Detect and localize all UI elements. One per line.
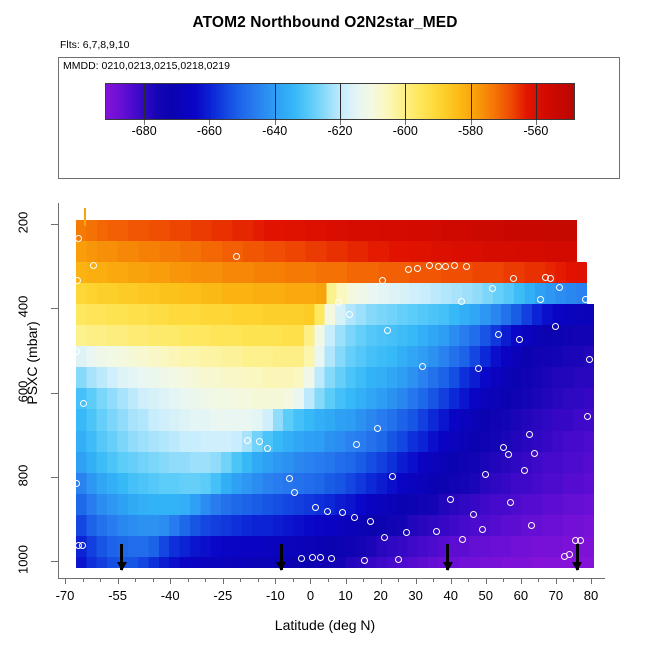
x-axis-tick-label: -25 — [200, 588, 246, 603]
data-point-marker — [79, 542, 86, 549]
data-point-marker — [447, 496, 454, 503]
y-axis-tick — [51, 477, 58, 478]
x-axis-minor-tick — [468, 578, 469, 582]
data-point-marker — [451, 262, 458, 269]
x-axis-minor-tick — [153, 578, 154, 582]
colorbar-tick — [405, 83, 406, 120]
x-axis-minor-tick — [573, 578, 574, 582]
x-axis-tick-label: -70 — [42, 588, 88, 603]
data-point-marker — [339, 509, 346, 516]
colorbar-tick — [209, 83, 210, 120]
data-point-marker — [479, 526, 486, 533]
y-axis-title: PSXC (mbar) — [24, 273, 40, 453]
colorbar-tick-label: -660 — [179, 124, 239, 138]
latitude-arrow — [446, 544, 449, 570]
data-point-marker — [384, 327, 391, 334]
data-point-marker — [367, 518, 374, 525]
y-axis-line — [58, 203, 59, 578]
data-point-marker — [586, 356, 593, 363]
colorbar-tick-label: -640 — [245, 124, 305, 138]
x-axis-tick-label: -40 — [147, 588, 193, 603]
colorbar-tick-label: -560 — [506, 124, 566, 138]
heatmap-row — [76, 241, 577, 263]
data-point-marker — [353, 441, 360, 448]
x-axis-minor-tick — [240, 578, 241, 582]
latitude-arrow — [120, 544, 123, 570]
heatmap-row — [76, 367, 595, 389]
colorbar-tick-label: -620 — [310, 124, 370, 138]
x-axis-minor-tick — [328, 578, 329, 582]
y-axis-tick-label: 200 — [16, 200, 31, 246]
x-axis-tick-label: 80 — [568, 588, 614, 603]
x-axis-minor-tick — [135, 578, 136, 582]
data-point-marker — [426, 262, 433, 269]
colorbar-tick — [144, 83, 145, 120]
data-point-marker — [442, 263, 449, 270]
data-point-marker — [374, 425, 381, 432]
data-point-marker — [528, 522, 535, 529]
data-point-marker — [291, 489, 298, 496]
x-axis-tick — [556, 578, 557, 584]
data-point-marker — [463, 263, 470, 270]
x-axis-minor-tick — [293, 578, 294, 582]
data-point-marker — [244, 437, 251, 444]
x-axis-title: Latitude (deg N) — [0, 617, 650, 633]
data-point-marker — [587, 257, 594, 264]
x-axis-minor-tick — [538, 578, 539, 582]
page-title: ATOM2 Northbound O2N2star_MED — [0, 14, 650, 32]
heatmap-row — [76, 452, 595, 474]
y-axis-tick-label: 1000 — [16, 537, 31, 583]
x-axis-minor-tick — [83, 578, 84, 582]
data-point-marker — [435, 263, 442, 270]
figure-root: ATOM2 Northbound O2N2star_MED Flts: 6,7,… — [0, 0, 650, 650]
data-point-marker — [74, 277, 81, 284]
heatmap-row — [76, 346, 595, 368]
data-point-marker — [505, 451, 512, 458]
x-axis-tick-label: -55 — [95, 588, 141, 603]
data-point-marker — [577, 537, 584, 544]
x-axis-tick — [451, 578, 452, 584]
data-point-marker — [547, 275, 554, 282]
data-point-marker — [312, 504, 319, 511]
y-axis-tick — [51, 224, 58, 225]
x-axis-tick — [118, 578, 119, 584]
x-axis-tick — [310, 578, 311, 584]
x-axis-tick — [223, 578, 224, 584]
flights-annotation: Flts: 6,7,8,9,10 — [60, 39, 129, 51]
x-axis-line — [58, 578, 605, 579]
data-point-marker — [381, 534, 388, 541]
heatmap-panel — [58, 203, 605, 578]
mmdd-annotation: MMDD: 0210,0213,0215,0218,0219 — [63, 60, 230, 72]
x-axis-tick — [416, 578, 417, 584]
heatmap-row — [76, 431, 595, 453]
colorbar-tick-label: -680 — [114, 124, 174, 138]
data-point-marker — [80, 400, 87, 407]
data-point-marker — [75, 235, 82, 242]
x-axis-minor-tick — [503, 578, 504, 582]
heatmap-row — [76, 473, 595, 495]
colorbar-tick — [340, 83, 341, 120]
colorbar — [105, 83, 575, 120]
colorbar-tick — [471, 83, 472, 120]
heatmap-row — [76, 557, 595, 568]
data-point-marker — [346, 311, 353, 318]
data-point-marker — [298, 555, 305, 562]
data-point-marker — [458, 298, 465, 305]
colorbar-tick-label: -580 — [441, 124, 501, 138]
x-axis-minor-tick — [258, 578, 259, 582]
y-axis-tick — [51, 308, 58, 309]
data-point-marker — [584, 413, 591, 420]
heatmap-row — [76, 304, 595, 326]
data-point-marker — [500, 444, 507, 451]
x-axis-tick — [275, 578, 276, 584]
data-point-marker — [379, 277, 386, 284]
latitude-arrow — [280, 544, 283, 570]
data-point-marker — [495, 331, 502, 338]
y-axis-tick — [51, 393, 58, 394]
data-point-marker — [233, 253, 240, 260]
data-point-marker — [309, 554, 316, 561]
data-point-marker — [73, 480, 80, 487]
data-point-marker — [351, 514, 358, 521]
x-axis-minor-tick — [188, 578, 189, 582]
y-axis-tick-label: 800 — [16, 452, 31, 498]
colorbar-tick — [536, 83, 537, 120]
data-spike — [84, 208, 86, 226]
x-axis-tick — [591, 578, 592, 584]
data-point-marker — [507, 499, 514, 506]
heatmap-row — [76, 283, 588, 305]
heatmap-row — [76, 536, 595, 558]
heatmap-row — [76, 515, 595, 537]
colorbar-tick — [275, 83, 276, 120]
data-point-marker — [556, 284, 563, 291]
x-axis-minor-tick — [363, 578, 364, 582]
x-axis-minor-tick — [100, 578, 101, 582]
x-axis-minor-tick — [433, 578, 434, 582]
heatmap-row — [76, 409, 595, 431]
data-point-marker — [395, 556, 402, 563]
data-point-marker — [582, 296, 589, 303]
x-axis-tick — [381, 578, 382, 584]
x-axis-minor-tick — [398, 578, 399, 582]
x-axis-minor-tick — [205, 578, 206, 582]
x-axis-tick — [486, 578, 487, 584]
heatmap-row — [76, 388, 595, 410]
colorbar-tick-label: -600 — [375, 124, 435, 138]
x-axis-tick — [521, 578, 522, 584]
x-axis-tick — [346, 578, 347, 584]
heatmap-row — [76, 220, 577, 242]
data-point-marker — [489, 285, 496, 292]
data-point-marker — [90, 262, 97, 269]
data-point-marker — [328, 555, 335, 562]
x-axis-tick — [170, 578, 171, 584]
x-axis-tick — [65, 578, 66, 584]
latitude-arrow — [576, 544, 579, 570]
y-axis-tick — [51, 561, 58, 562]
heatmap-row — [76, 494, 595, 516]
